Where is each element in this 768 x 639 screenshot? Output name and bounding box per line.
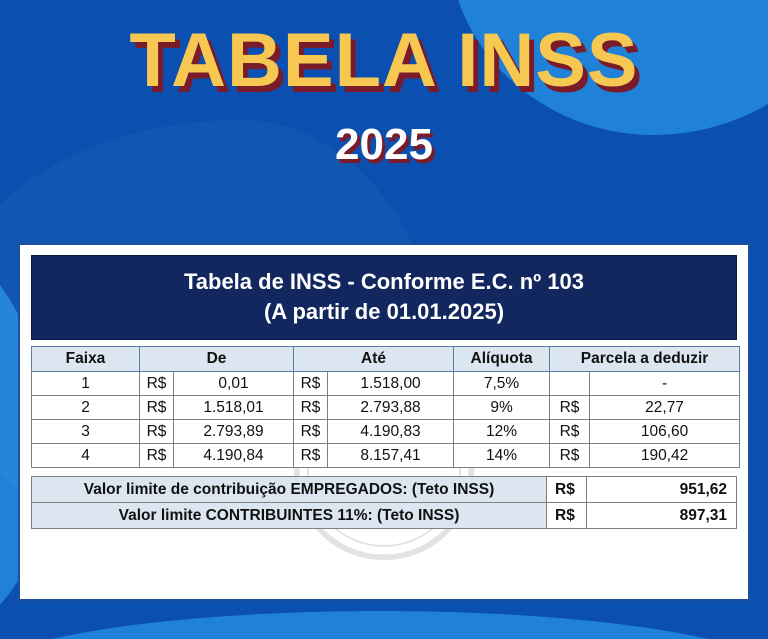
cell-faixa: 4	[32, 444, 140, 468]
cell-parcela-value: -	[590, 372, 740, 396]
footer-currency-contribuintes: R$	[547, 503, 587, 529]
cell-parcela-currency	[550, 372, 590, 396]
cell-ate-value: 2.793,88	[328, 396, 454, 420]
cell-ate-value: 8.157,41	[328, 444, 454, 468]
cell-parcela-currency: R$	[550, 444, 590, 468]
cell-parcela-value: 190,42	[590, 444, 740, 468]
table-title-banner: Tabela de INSS - Conforme E.C. nº 103 (A…	[31, 255, 737, 340]
cell-de-currency: R$	[140, 420, 174, 444]
column-header-faixa: Faixa	[32, 347, 140, 372]
cell-faixa: 1	[32, 372, 140, 396]
footer-row-contribuintes: Valor limite CONTRIBUINTES 11%: (Teto IN…	[32, 503, 737, 529]
cell-de-value: 0,01	[174, 372, 294, 396]
column-header-de: De	[140, 347, 294, 372]
cell-de-currency: R$	[140, 372, 174, 396]
inss-limits-table: Valor limite de contribuição EMPREGADOS:…	[31, 476, 737, 529]
cell-ate-value: 1.518,00	[328, 372, 454, 396]
hero-banner: TABELA INSS 2025	[0, 22, 768, 170]
cell-de-currency: R$	[140, 396, 174, 420]
cell-ate-currency: R$	[294, 420, 328, 444]
table-row: 1 R$ 0,01 R$ 1.518,00 7,5% -	[32, 372, 740, 396]
footer-label-contribuintes: Valor limite CONTRIBUINTES 11%: (Teto IN…	[32, 503, 547, 529]
table-header-row: Faixa De Até Alíquota Parcela a deduzir	[32, 347, 740, 372]
footer-label-empregados: Valor limite de contribuição EMPREGADOS:…	[32, 477, 547, 503]
cell-de-value: 1.518,01	[174, 396, 294, 420]
table-card: AG INSS Tabela de INSS - Conforme E.C. n…	[18, 243, 750, 601]
cell-parcela-value: 22,77	[590, 396, 740, 420]
footer-value-contribuintes: 897,31	[587, 503, 737, 529]
cell-ate-value: 4.190,83	[328, 420, 454, 444]
cell-parcela-currency: R$	[550, 420, 590, 444]
cell-ate-currency: R$	[294, 444, 328, 468]
cell-aliquota: 14%	[454, 444, 550, 468]
cell-aliquota: 12%	[454, 420, 550, 444]
column-header-ate: Até	[294, 347, 454, 372]
inss-rates-table: Faixa De Até Alíquota Parcela a deduzir …	[31, 346, 740, 468]
cell-faixa: 3	[32, 420, 140, 444]
column-header-aliquota: Alíquota	[454, 347, 550, 372]
cell-de-value: 2.793,89	[174, 420, 294, 444]
cell-parcela-currency: R$	[550, 396, 590, 420]
cell-faixa: 2	[32, 396, 140, 420]
cell-ate-currency: R$	[294, 396, 328, 420]
decorative-blob-bottom	[0, 611, 768, 639]
cell-ate-currency: R$	[294, 372, 328, 396]
cell-de-currency: R$	[140, 444, 174, 468]
footer-currency-empregados: R$	[547, 477, 587, 503]
table-row: 4 R$ 4.190,84 R$ 8.157,41 14% R$ 190,42	[32, 444, 740, 468]
table-title-line1: Tabela de INSS - Conforme E.C. nº 103	[38, 268, 730, 296]
cell-aliquota: 7,5%	[454, 372, 550, 396]
column-header-parcela: Parcela a deduzir	[550, 347, 740, 372]
cell-parcela-value: 106,60	[590, 420, 740, 444]
cell-de-value: 4.190,84	[174, 444, 294, 468]
table-row: 2 R$ 1.518,01 R$ 2.793,88 9% R$ 22,77	[32, 396, 740, 420]
footer-value-empregados: 951,62	[587, 477, 737, 503]
cell-aliquota: 9%	[454, 396, 550, 420]
table-title-line2: (A partir de 01.01.2025)	[38, 298, 730, 326]
poster-canvas: TABELA INSS 2025 AG INSS Tabela de INSS …	[0, 0, 768, 639]
page-title: TABELA INSS	[0, 22, 768, 100]
table-row: 3 R$ 2.793,89 R$ 4.190,83 12% R$ 106,60	[32, 420, 740, 444]
footer-row-empregados: Valor limite de contribuição EMPREGADOS:…	[32, 477, 737, 503]
page-year: 2025	[0, 120, 768, 170]
